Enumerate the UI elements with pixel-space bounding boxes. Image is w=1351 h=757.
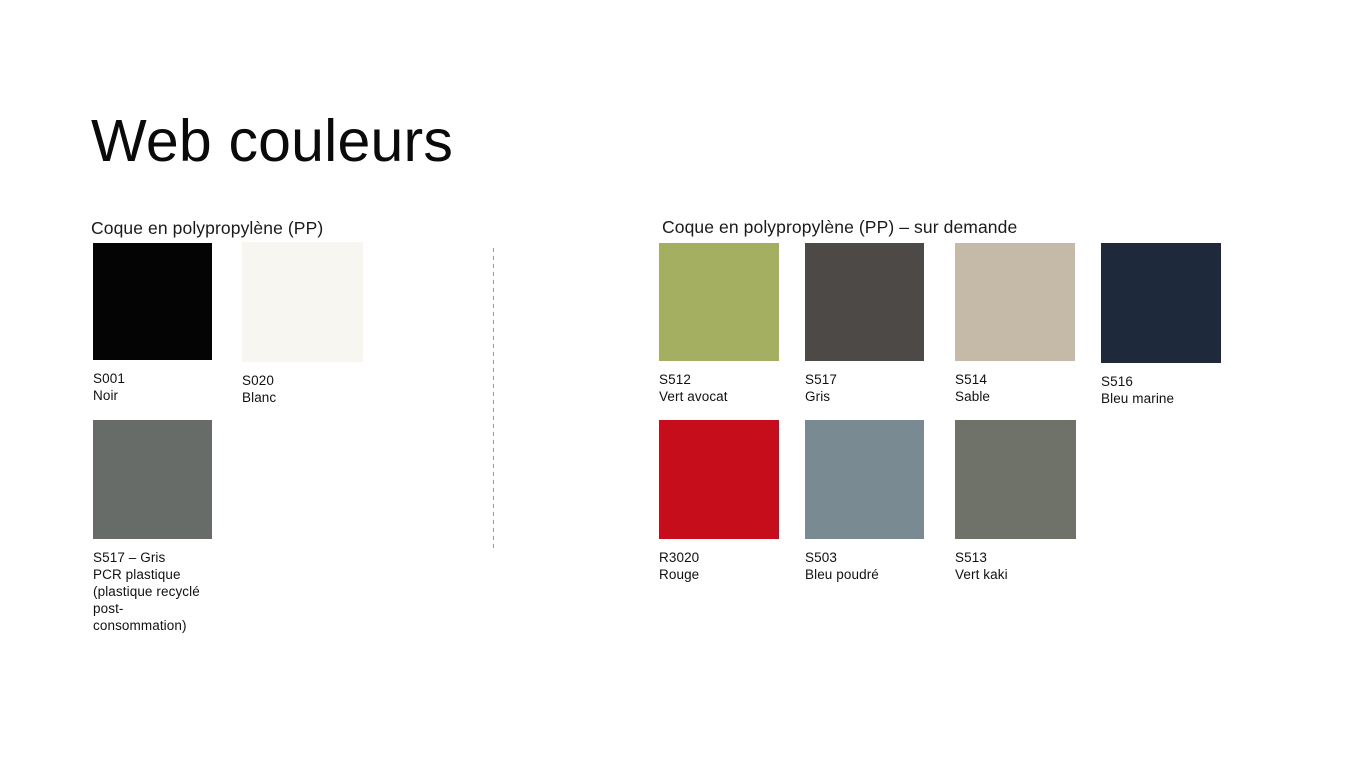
swatch-label-s514: S514 Sable (955, 371, 1075, 405)
swatch-cell-s020[interactable]: S020 Blanc (242, 242, 363, 406)
color-swatch-s516[interactable] (1101, 243, 1221, 363)
swatch-cell-s503[interactable]: S503 Bleu poudré (805, 420, 924, 583)
swatch-cell-s001[interactable]: S001 Noir (93, 243, 212, 404)
section-header-pp-sur-demande: Coque en polypropylène (PP) – sur demand… (662, 217, 1017, 238)
swatch-cell-s513[interactable]: S513 Vert kaki (955, 420, 1076, 583)
color-swatch-s001[interactable] (93, 243, 212, 360)
section-header-pp-standard: Coque en polypropylène (PP) (91, 218, 323, 239)
swatch-cell-s517-pcr[interactable]: S517 – Gris PCR plastique (plastique rec… (93, 420, 212, 634)
swatch-label-s517: S517 Gris (805, 371, 924, 405)
swatch-label-s503: S503 Bleu poudré (805, 549, 924, 583)
color-palette-slide: Web couleurs Coque en polypropylène (PP)… (0, 0, 1351, 757)
swatch-label-s020: S020 Blanc (242, 372, 363, 406)
column-divider (493, 248, 494, 549)
color-swatch-s517[interactable] (805, 243, 924, 361)
swatch-label-r3020: R3020 Rouge (659, 549, 779, 583)
color-swatch-s503[interactable] (805, 420, 924, 539)
swatch-label-s516: S516 Bleu marine (1101, 373, 1221, 407)
swatch-label-s513: S513 Vert kaki (955, 549, 1076, 583)
swatch-cell-s512[interactable]: S512 Vert avocat (659, 243, 779, 405)
swatch-label-s001: S001 Noir (93, 370, 212, 404)
swatch-cell-s517[interactable]: S517 Gris (805, 243, 924, 405)
page-title: Web couleurs (91, 111, 453, 173)
color-swatch-r3020[interactable] (659, 420, 779, 539)
color-swatch-s020[interactable] (242, 242, 363, 362)
swatch-label-s512: S512 Vert avocat (659, 371, 779, 405)
color-swatch-s517-pcr[interactable] (93, 420, 212, 539)
color-swatch-s512[interactable] (659, 243, 779, 361)
swatch-label-s517-pcr: S517 – Gris PCR plastique (plastique rec… (93, 549, 212, 634)
color-swatch-s513[interactable] (955, 420, 1076, 539)
swatch-cell-r3020[interactable]: R3020 Rouge (659, 420, 779, 583)
swatch-cell-s516[interactable]: S516 Bleu marine (1101, 243, 1221, 407)
swatch-cell-s514[interactable]: S514 Sable (955, 243, 1075, 405)
color-swatch-s514[interactable] (955, 243, 1075, 361)
